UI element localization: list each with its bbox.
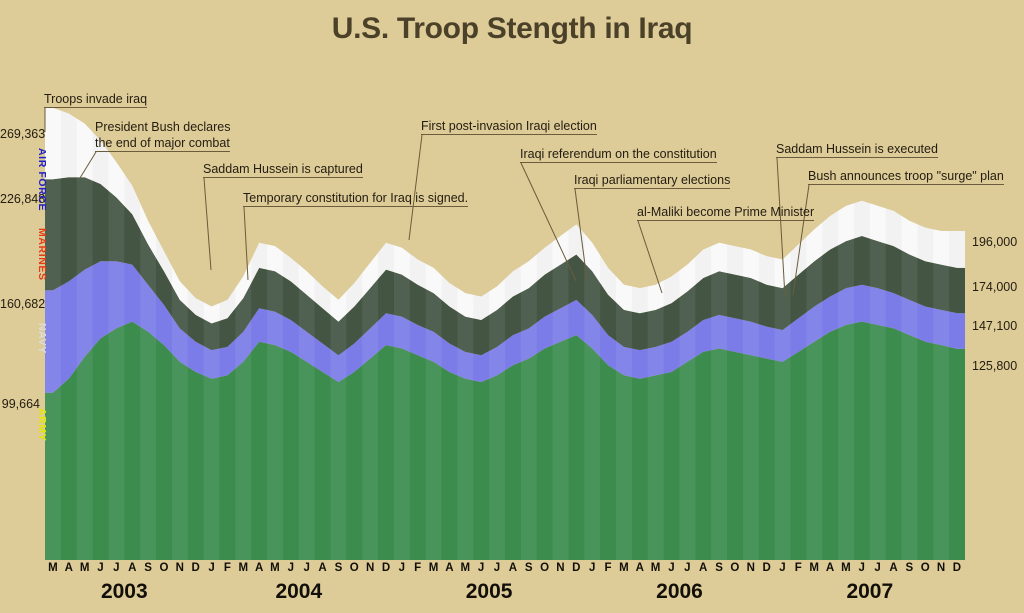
- month-tick-label: M: [806, 562, 822, 580]
- month-tick-label: D: [759, 562, 775, 580]
- annotation-label: Iraqi referendum on the constitution: [520, 147, 717, 163]
- month-tick-label: N: [933, 562, 949, 580]
- series-legend-label-marines: MARINES: [36, 228, 48, 281]
- chart-page: U.S. Troop Stength in Iraq 269,363226,84…: [0, 0, 1024, 613]
- month-tick-label: A: [695, 562, 711, 580]
- series-legend-label-navy: NAVY: [36, 323, 48, 354]
- month-tick-label: J: [299, 562, 315, 580]
- x-axis-year-labels: 20032004200520062007: [45, 580, 965, 610]
- month-tick-label: N: [362, 562, 378, 580]
- month-tick-label: A: [505, 562, 521, 580]
- month-tick-label: O: [156, 562, 172, 580]
- annotation-label: the end of major combat: [95, 136, 230, 152]
- month-tick-label: D: [949, 562, 965, 580]
- month-tick-label: M: [45, 562, 61, 580]
- month-tick-label: M: [648, 562, 664, 580]
- month-tick-label: J: [664, 562, 680, 580]
- month-tick-label: O: [917, 562, 933, 580]
- series-legend-label-army: ARMY: [36, 408, 48, 441]
- month-tick-label: J: [108, 562, 124, 580]
- month-tick-label: A: [124, 562, 140, 580]
- month-tick-label: M: [616, 562, 632, 580]
- year-label: 2007: [846, 580, 893, 604]
- month-tick-label: S: [330, 562, 346, 580]
- month-tick-label: M: [426, 562, 442, 580]
- left-axis-tick-label: 226,848: [0, 192, 40, 206]
- left-axis-tick-label: 269,363: [0, 127, 40, 141]
- month-tick-label: N: [553, 562, 569, 580]
- month-tick-label: S: [901, 562, 917, 580]
- month-tick-label: J: [473, 562, 489, 580]
- x-axis-month-labels: MAMJJASONDJFMAMJJASONDJFMAMJJASONDJFMAMJ…: [45, 562, 965, 580]
- month-tick-label: M: [235, 562, 251, 580]
- area-chart-svg: [45, 90, 965, 560]
- month-tick-label: J: [679, 562, 695, 580]
- month-tick-label: O: [537, 562, 553, 580]
- annotation-label: Bush announces troop "surge" plan: [808, 169, 1004, 185]
- month-tick-label: J: [93, 562, 109, 580]
- month-tick-label: A: [822, 562, 838, 580]
- month-tick-label: F: [219, 562, 235, 580]
- month-tick-label: M: [77, 562, 93, 580]
- annotation-label: President Bush declares: [95, 120, 231, 135]
- month-tick-label: A: [251, 562, 267, 580]
- annotation-label: First post-invasion Iraqi election: [421, 119, 597, 135]
- page-title: U.S. Troop Stength in Iraq: [0, 12, 1024, 46]
- month-tick-label: D: [568, 562, 584, 580]
- month-tick-label: J: [394, 562, 410, 580]
- left-axis-tick-label: 160,682: [0, 297, 40, 311]
- month-tick-label: A: [61, 562, 77, 580]
- month-tick-label: M: [267, 562, 283, 580]
- annotation-label: Iraqi parliamentary elections: [574, 173, 730, 189]
- month-tick-label: J: [870, 562, 886, 580]
- month-tick-label: D: [188, 562, 204, 580]
- month-tick-label: O: [727, 562, 743, 580]
- year-label: 2004: [275, 580, 322, 604]
- left-axis-tick-label: 99,664: [0, 397, 40, 411]
- month-tick-label: F: [790, 562, 806, 580]
- month-tick-label: A: [315, 562, 331, 580]
- month-tick-label: M: [838, 562, 854, 580]
- month-tick-label: F: [600, 562, 616, 580]
- year-label: 2003: [101, 580, 148, 604]
- right-axis-tick-label: 174,000: [972, 280, 1017, 294]
- month-tick-label: S: [711, 562, 727, 580]
- month-tick-label: J: [204, 562, 220, 580]
- month-tick-label: N: [172, 562, 188, 580]
- right-axis-tick-label: 125,800: [972, 359, 1017, 373]
- month-tick-label: J: [584, 562, 600, 580]
- month-tick-label: A: [441, 562, 457, 580]
- month-tick-label: J: [775, 562, 791, 580]
- month-tick-label: J: [489, 562, 505, 580]
- series-legend-label-air-force: AIR FORCE: [36, 148, 48, 211]
- month-tick-label: A: [632, 562, 648, 580]
- annotation-label: Troops invade iraq: [44, 92, 147, 108]
- month-tick-label: A: [886, 562, 902, 580]
- month-tick-label: O: [346, 562, 362, 580]
- right-axis-tick-label: 196,000: [972, 235, 1017, 249]
- month-tick-label: J: [854, 562, 870, 580]
- month-tick-label: S: [521, 562, 537, 580]
- annotation-label: al-Maliki become Prime Minister: [637, 205, 814, 221]
- annotation-label: Saddam Hussein is captured: [203, 162, 363, 178]
- annotation-label: Saddam Hussein is executed: [776, 142, 938, 158]
- month-tick-label: M: [457, 562, 473, 580]
- year-label: 2005: [466, 580, 513, 604]
- month-tick-label: F: [410, 562, 426, 580]
- stacked-area-plot: [45, 90, 965, 560]
- year-label: 2006: [656, 580, 703, 604]
- month-tick-label: N: [743, 562, 759, 580]
- month-tick-label: J: [283, 562, 299, 580]
- month-tick-label: S: [140, 562, 156, 580]
- annotation-label: Temporary constitution for Iraq is signe…: [243, 191, 468, 207]
- right-axis-tick-label: 147,100: [972, 319, 1017, 333]
- month-tick-label: D: [378, 562, 394, 580]
